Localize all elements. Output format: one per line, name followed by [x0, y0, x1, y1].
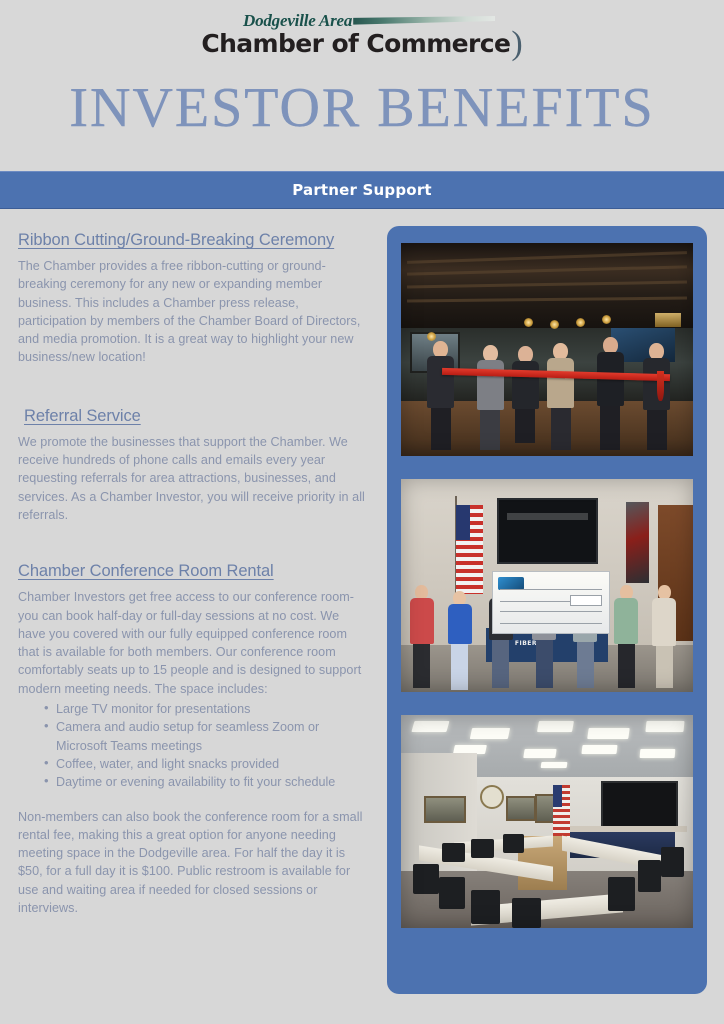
spacer-3 [18, 792, 370, 808]
photo1-lamp-icon [576, 318, 585, 327]
photo2-person-body [652, 598, 676, 646]
photo3-picture-frame [424, 796, 466, 823]
photo2-oversized-check [492, 571, 611, 635]
photo3-ceiling-light [453, 745, 487, 754]
photo3-chair [413, 864, 439, 894]
logo-top-row: Dodgeville Area [243, 12, 495, 30]
section-body-referral-service: We promote the businesses that support t… [18, 433, 370, 524]
photo3-tv-monitor [601, 781, 678, 832]
photo3-ceiling-light [582, 745, 618, 754]
photo1-person-legs [431, 408, 451, 450]
section-banner: Partner Support [0, 171, 724, 209]
list-item: Coffee, water, and light snacks provided [44, 755, 370, 773]
photo3-ceiling-light [411, 721, 449, 732]
photo2-person [652, 585, 676, 688]
logo-paren-mark: ) [511, 30, 522, 57]
photo3-ceiling-light [470, 728, 510, 739]
section-heading-referral-service: Referral Service [24, 407, 141, 426]
photo2-person-legs [656, 646, 673, 688]
photo1-person-legs [551, 408, 571, 450]
photo2-person [448, 591, 472, 690]
photo2-person-legs [536, 640, 553, 688]
spacer-1 [18, 367, 370, 407]
logo-line1-text: Dodgeville Area [243, 12, 352, 30]
conference-room-photo [401, 715, 693, 928]
photo3-ceiling-light [537, 721, 574, 732]
page-content: Ribbon Cutting/Ground-Breaking Ceremony … [0, 209, 724, 1024]
photo3-ceiling-light [541, 762, 568, 768]
photo1-person [547, 343, 574, 450]
section-conference-room-rental: Chamber Conference Room Rental Chamber I… [18, 562, 370, 917]
banner-title: Partner Support [292, 181, 432, 199]
photo2-person-legs [413, 644, 430, 688]
photo2-person-body [410, 598, 434, 644]
photo1-ribbon-tail [657, 371, 664, 401]
photo1-person [427, 341, 454, 450]
chamber-logo: Dodgeville Area Chamber of Commerce ) [0, 12, 724, 64]
list-item: Large TV monitor for presentations [44, 700, 370, 718]
photo1-chandelier [655, 313, 681, 327]
photo1-person-legs [600, 406, 620, 450]
photo2-person-legs [492, 640, 509, 688]
photo2-person [410, 585, 434, 688]
section-ribbon-cutting: Ribbon Cutting/Ground-Breaking Ceremony … [18, 231, 370, 367]
photo1-person-legs [480, 410, 500, 450]
photo1-person [512, 346, 539, 443]
photo3-wall-clock-icon [480, 785, 504, 809]
ribbon-cutting-photo [401, 243, 693, 456]
photo3-counter-top [570, 826, 687, 832]
photo1-person [477, 345, 504, 450]
photo3-chair [608, 877, 634, 911]
photo3-chair [442, 843, 465, 862]
photo2-check-amount-box [570, 595, 602, 606]
photo3-chair [512, 898, 541, 928]
photo3-chair [439, 877, 465, 909]
photo-panel: FIBER [387, 226, 707, 994]
photo3-chair [661, 847, 684, 877]
photo3-us-flag [553, 785, 571, 840]
photo3-ceiling-light [587, 728, 629, 739]
photo3-ceiling-light [646, 721, 685, 732]
photo1-lamp-icon [524, 318, 533, 327]
photo1-person-body [547, 358, 574, 408]
section-heading-conference-room-rental: Chamber Conference Room Rental [18, 562, 274, 581]
photo2-person-legs [451, 644, 468, 690]
photo2-person-body [448, 604, 472, 644]
page-title: INVESTOR BENEFITS [0, 78, 724, 138]
section-closing-conference-room-rental: Non-members can also book the conference… [18, 808, 370, 918]
photo1-person-body [477, 360, 504, 410]
photo3-chair [471, 890, 500, 924]
list-item: Camera and audio setup for seamless Zoom… [44, 718, 370, 755]
logo-line2-text: Chamber of Commerce [201, 30, 510, 57]
photo1-lamp-icon [550, 320, 559, 329]
photo2-person [614, 585, 638, 688]
photo3-chair [503, 834, 523, 853]
photo1-person-legs [647, 410, 667, 450]
section-heading-ribbon-cutting: Ribbon Cutting/Ground-Breaking Ceremony [18, 231, 334, 250]
check-presentation-photo: FIBER [401, 479, 693, 692]
photo2-us-flag [456, 505, 482, 594]
photo1-person [597, 337, 624, 450]
photo3-ceiling-light [640, 749, 676, 758]
section-body-ribbon-cutting: The Chamber provides a free ribbon-cutti… [18, 257, 370, 367]
section-referral-service: Referral Service We promote the business… [18, 407, 370, 524]
photo1-person-body [512, 361, 539, 409]
photo2-tv-screen [497, 498, 597, 564]
photo3-ceiling-light [523, 749, 556, 758]
logo-swoosh-icon [353, 16, 495, 29]
photo2-state-flag [626, 502, 649, 583]
spacer-2 [18, 524, 370, 562]
photo2-person-body [614, 598, 638, 644]
page-header: Dodgeville Area Chamber of Commerce ) IN… [0, 0, 724, 171]
photo1-person-legs [515, 409, 535, 443]
photo1-person-body [427, 356, 454, 408]
left-text-column: Ribbon Cutting/Ground-Breaking Ceremony … [18, 231, 370, 917]
logo-bottom-row: Chamber of Commerce ) [201, 30, 522, 57]
photo3-chair [638, 860, 661, 892]
photo2-person-legs [618, 644, 635, 688]
conference-room-feature-list: Large TV monitor for presentations Camer… [18, 700, 370, 791]
photo2-person-legs [577, 642, 594, 688]
photo3-picture-frame [506, 796, 536, 821]
section-body-conference-room-rental: Chamber Investors get free access to our… [18, 588, 370, 698]
list-item: Daytime or evening availability to fit y… [44, 773, 370, 791]
photo3-chair [471, 839, 494, 858]
